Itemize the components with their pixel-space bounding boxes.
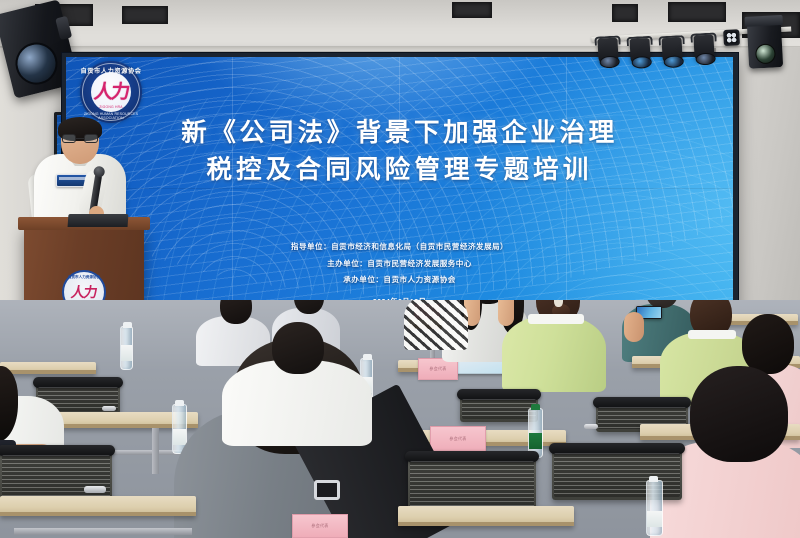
- eyeglasses-icon: [62, 134, 98, 143]
- led-display: 自贡市人力资源协会 ZIGONG HUMAN RESOURCES ASSOCIA…: [66, 57, 733, 316]
- light-yoke: [690, 32, 716, 42]
- desk: [0, 496, 196, 516]
- chair[interactable]: [408, 458, 536, 512]
- led-video-wall: 自贡市人力资源协会 ZIGONG HUMAN RESOURCES ASSOCIA…: [62, 53, 738, 321]
- light-yoke: [626, 36, 652, 46]
- ceiling-vent: [122, 6, 168, 24]
- desk-edge: [398, 522, 574, 526]
- attendee-head: [272, 322, 324, 374]
- strap-buckle: [314, 480, 340, 500]
- bottle-label: [173, 429, 186, 445]
- logo-inner-disc: 人力 ZIGONG HRA: [91, 72, 131, 112]
- bottle-cap: [363, 354, 372, 360]
- attendee-torso: [404, 300, 468, 350]
- chair-armrest: [84, 486, 106, 493]
- chair-mesh-back: [462, 399, 536, 419]
- name-card-text: 参会代表: [429, 366, 446, 372]
- light-lens-icon: [11, 38, 62, 89]
- desk: [0, 362, 96, 374]
- bottle-cap: [175, 400, 184, 406]
- chair-mesh-back: [410, 461, 534, 509]
- par-led-fixture: [723, 29, 740, 46]
- name-card-text: 参会代表: [449, 436, 466, 442]
- spotlight-fixture: [693, 35, 714, 62]
- title-line-1: 新《公司法》背景下加强企业治理: [66, 115, 733, 152]
- attendee-arm: [498, 300, 514, 326]
- desk: [398, 506, 574, 526]
- light-base: [744, 15, 782, 27]
- light-yoke: [658, 35, 684, 45]
- bottle-label: [529, 433, 542, 449]
- organizer-block: 指导单位：自贡市经济和信息化局（自贡市民营经济发展局） 主办单位：自贡市民营经济…: [66, 239, 733, 289]
- bottle-cap: [649, 476, 658, 482]
- bottle-label: [647, 511, 662, 527]
- emblem-ring-text-cn: 自贡市人力资源协会: [64, 275, 104, 280]
- attendee-collar: [688, 330, 736, 339]
- attendee-head: [742, 314, 794, 374]
- ceiling-vent: [452, 2, 492, 18]
- attendee-torso: [502, 316, 606, 392]
- light-yoke: [594, 35, 620, 45]
- title-line-2: 税控及合同风险管理专题培训: [66, 152, 733, 189]
- podium-laptop: [68, 214, 129, 227]
- chair-armrest: [584, 424, 598, 429]
- attendee-head: [690, 366, 788, 462]
- emblem-mark-icon: 人力: [71, 285, 98, 299]
- spotlight-fixture: [597, 38, 618, 65]
- attendee-collar: [528, 314, 584, 324]
- desk-edge: [0, 512, 196, 516]
- desk-rail: [14, 528, 192, 535]
- attendee-arm: [624, 312, 644, 342]
- desk-edge: [0, 370, 96, 374]
- chair-armrest: [102, 406, 116, 411]
- chair-mesh-back: [2, 455, 110, 501]
- bottle-cap: [531, 404, 540, 410]
- spotlight-fixture: [629, 38, 650, 65]
- name-card: 参会代表: [292, 514, 348, 538]
- training-session-photo: 自贡市人力资源协会 人力 自贡市人力资源协会 ZIGONG HUMAN RESO: [0, 0, 800, 538]
- lens-right: [84, 134, 98, 143]
- lens-left: [62, 134, 76, 143]
- logo-mark-subtext: ZIGONG HRA: [91, 105, 131, 109]
- desk-leg: [152, 428, 159, 474]
- organizer-line-host: 主办单位：自贡市民营经济发展服务中心: [66, 256, 733, 273]
- logo-mark-icon: 人力: [93, 83, 129, 102]
- name-card: 参会代表: [430, 426, 486, 452]
- spotlight-fixture: [662, 37, 683, 64]
- bottle-label: [121, 345, 132, 361]
- organizer-line-coordinator: 承办单位：自贡市人力资源协会: [66, 272, 733, 289]
- audience-area: 参会代表 参会代表 参会代表: [0, 300, 800, 538]
- light-lens-icon: [755, 43, 776, 64]
- presentation-title-block: 新《公司法》背景下加强企业治理 税控及合同风险管理专题培训: [66, 115, 733, 189]
- name-card-text: 参会代表: [311, 523, 328, 529]
- water-bottle[interactable]: [120, 326, 133, 370]
- chair[interactable]: [460, 396, 538, 422]
- bottle-cap: [123, 322, 132, 328]
- moving-head-light: [747, 21, 783, 69]
- glasses-bridge: [76, 138, 84, 139]
- water-bottle[interactable]: [646, 480, 663, 536]
- organizer-line-guidance: 指导单位：自贡市经济和信息化局（自贡市民营经济发展局）: [66, 239, 733, 256]
- association-logo: 自贡市人力资源协会 ZIGONG HUMAN RESOURCES ASSOCIA…: [80, 61, 142, 123]
